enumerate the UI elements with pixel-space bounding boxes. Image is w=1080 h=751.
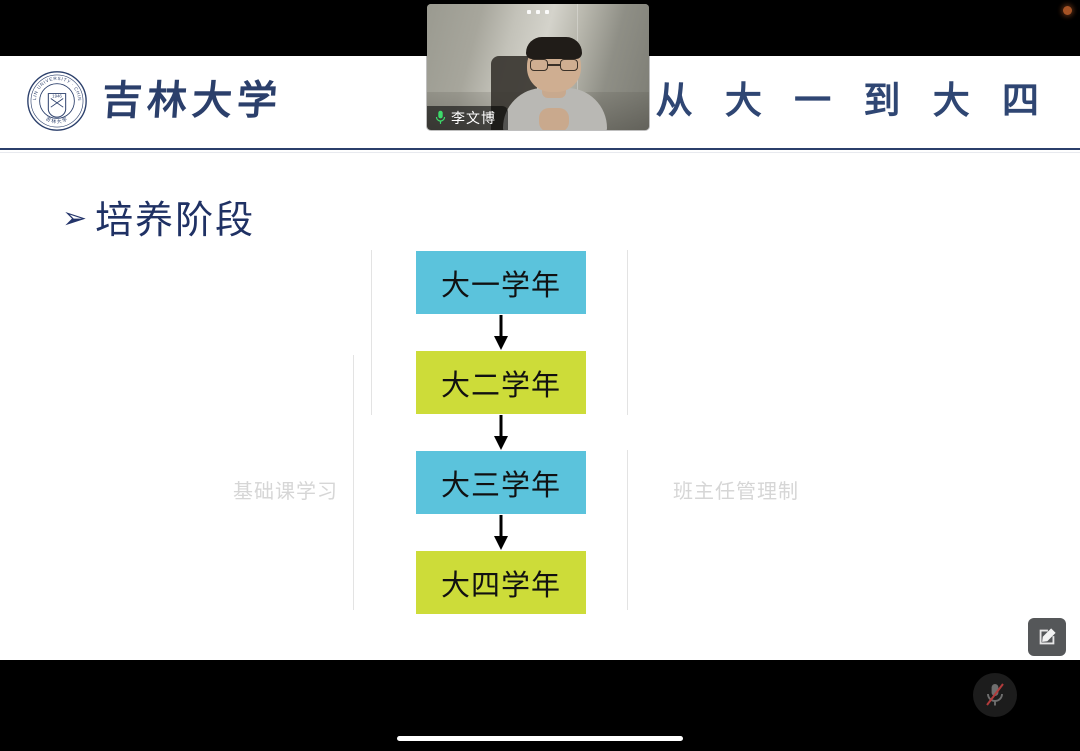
annotate-button[interactable] [1028, 618, 1066, 656]
slide-title: 从 大 一 到 大 四 [656, 82, 1050, 119]
participant-name: 李文博 [451, 111, 496, 125]
university-seal-icon: 1946 JILIN UNIVERSITY · CHINA 吉林大学 [26, 70, 88, 132]
university-brand: 1946 JILIN UNIVERSITY · CHINA 吉林大学 吉林大学 [26, 70, 282, 132]
divider-line-right-upper [627, 250, 628, 415]
svg-text:1946: 1946 [52, 93, 62, 98]
flow-arrow-3 [416, 514, 586, 551]
flow-box-year-3: 大三学年 [416, 451, 586, 514]
screen-root: 1946 JILIN UNIVERSITY · CHINA 吉林大学 吉林大学 … [0, 0, 1080, 751]
flowchart: 大一学年 大二学年 大三学年 [416, 251, 586, 614]
participant-name-badge: 李文博 [427, 106, 508, 130]
person-hair [526, 37, 582, 59]
microphone-icon [435, 110, 446, 125]
divider-line-left-upper [371, 250, 372, 415]
section-heading: ➢ 培养阶段 [62, 202, 255, 240]
microphone-muted-icon [983, 682, 1007, 708]
drag-dots-handle[interactable] [527, 10, 549, 14]
divider-line-left-lower [353, 355, 354, 610]
flow-arrow-2 [416, 414, 586, 451]
flow-box-year-1: 大一学年 [416, 251, 586, 314]
person-glasses [530, 59, 578, 71]
slide-body: ➢ 培养阶段 大一学年 大二学年 [0, 150, 1080, 660]
mic-mute-button[interactable] [973, 673, 1017, 717]
person-hand [539, 108, 569, 130]
annotate-icon [1036, 626, 1058, 648]
flow-arrow-1 [416, 314, 586, 351]
label-basic-courses: 基础课学习 [233, 475, 338, 504]
flow-box-year-4: 大四学年 [416, 551, 586, 614]
label-class-advisor-system: 班主任管理制 [673, 475, 799, 504]
presenter-video-tile[interactable]: 李文博 [427, 4, 649, 130]
university-name: 吉林大学 [101, 81, 284, 121]
arrow-bullet-icon: ➢ [62, 204, 87, 234]
section-heading-text: 培养阶段 [95, 202, 255, 240]
recording-indicator-dot [1063, 6, 1072, 15]
bottom-bar [0, 660, 1080, 751]
slide-area[interactable]: 1946 JILIN UNIVERSITY · CHINA 吉林大学 吉林大学 … [0, 56, 1080, 660]
flow-box-year-2: 大二学年 [416, 351, 586, 414]
divider-line-right-lower [627, 450, 628, 610]
home-indicator [397, 736, 683, 741]
